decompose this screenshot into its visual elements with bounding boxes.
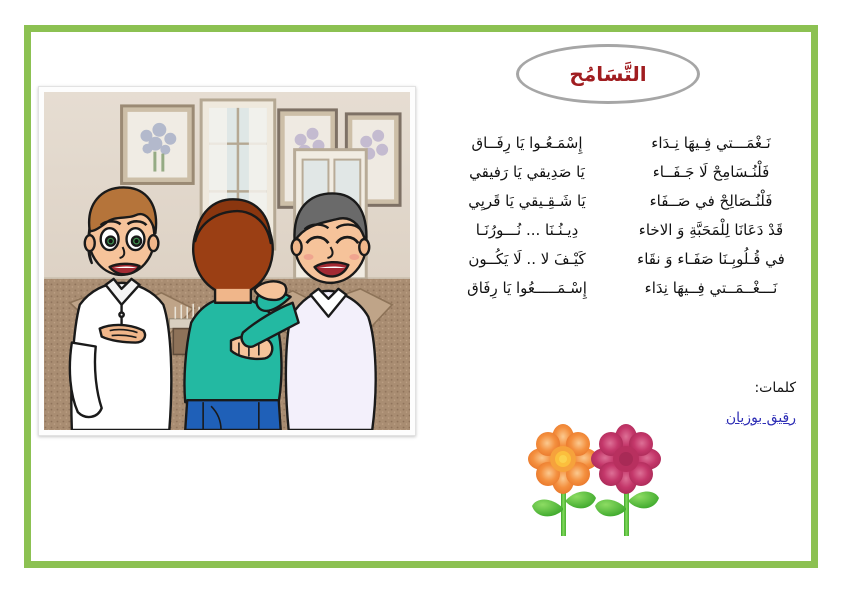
poem-verse-6: نَـــغْــمَــتي فِــيهَا نِدَاء إِسْـمَـ…: [432, 279, 800, 308]
poem-verse-4: قَدْ دَعَانَا لِلْمَحَبَّةِ وَ الاخاء دِ…: [432, 221, 800, 250]
poem-verse-2-hemistich-a: فَلْنُـسَامِحْ لَا جَـفَــاء: [622, 163, 800, 181]
wall-picture-left: [122, 106, 194, 184]
poem-verse-2: فَلْنُـسَامِحْ لَا جَـفَــاء يَا صَدِيقي…: [432, 163, 800, 192]
poem-verse-1-hemistich-a: نَـغْمَـــتي فِـيهَا نِـدَاء: [622, 134, 800, 152]
poem-verse-5-hemistich-b: كَيْـفَ لا .. لَا يَكُــون: [432, 250, 622, 268]
poem-verse-6-hemistich-b: إِسْـمَـــــعُوا يَا رِفَاق: [432, 279, 622, 297]
poem-verse-3: فَلْنُـصَالِحْ في صَــفَاء يَا شَـقِـيقي…: [432, 192, 800, 221]
poem-verse-4-hemistich-a: قَدْ دَعَانَا لِلْمَحَبَّةِ وَ الاخاء: [622, 221, 800, 239]
poem-verse-5-hemistich-a: في قُـلُوبِـنَا صَفَـاء وَ نقَاء: [622, 250, 800, 268]
poem-verse-6-hemistich-a: نَـــغْــمَــتي فِــيهَا نِدَاء: [622, 279, 800, 297]
orange-flower: [528, 424, 598, 536]
poem-verse-4-hemistich-b: دِيـنُـنَا ... نُـــورُنَـا: [432, 221, 622, 239]
flowers-svg: [524, 424, 664, 539]
poem-verse-1: نَـغْمَـــتي فِـيهَا نِـدَاء إِسْمَـعُـو…: [432, 134, 800, 163]
poem-verse-3-hemistich-a: فَلْنُـصَالِحْ في صَــفَاء: [622, 192, 800, 210]
page-title: التَّسَامُح: [516, 44, 700, 104]
credits-label: كلمات:: [726, 378, 796, 398]
poem-verse-3-hemistich-b: يَا شَـقِـيقي يَا قَريِي: [432, 192, 622, 210]
poem-verse-1-hemistich-b: إِسْمَـعُـوا يَا رِفَــاق: [432, 134, 622, 152]
pink-flower: [591, 424, 661, 536]
poem-body: نَـغْمَـــتي فِـيهَا نِـدَاء إِسْمَـعُـو…: [432, 134, 800, 308]
illustration-photo-card: [38, 86, 416, 436]
title-container: التَّسَامُح: [516, 44, 700, 104]
credits-block: كلمات: رقيق بوزيان: [726, 378, 796, 426]
flowers-decoration: [524, 424, 664, 539]
poem-verse-2-hemistich-b: يَا صَدِيقي يَا رَفيقي: [432, 163, 622, 181]
poem-verse-5: في قُـلُوبِـنَا صَفَـاء وَ نقَاء كَيْـفَ…: [432, 250, 800, 279]
illustration-image: [44, 92, 410, 430]
credits-author-link[interactable]: رقيق بوزيان: [726, 410, 796, 426]
